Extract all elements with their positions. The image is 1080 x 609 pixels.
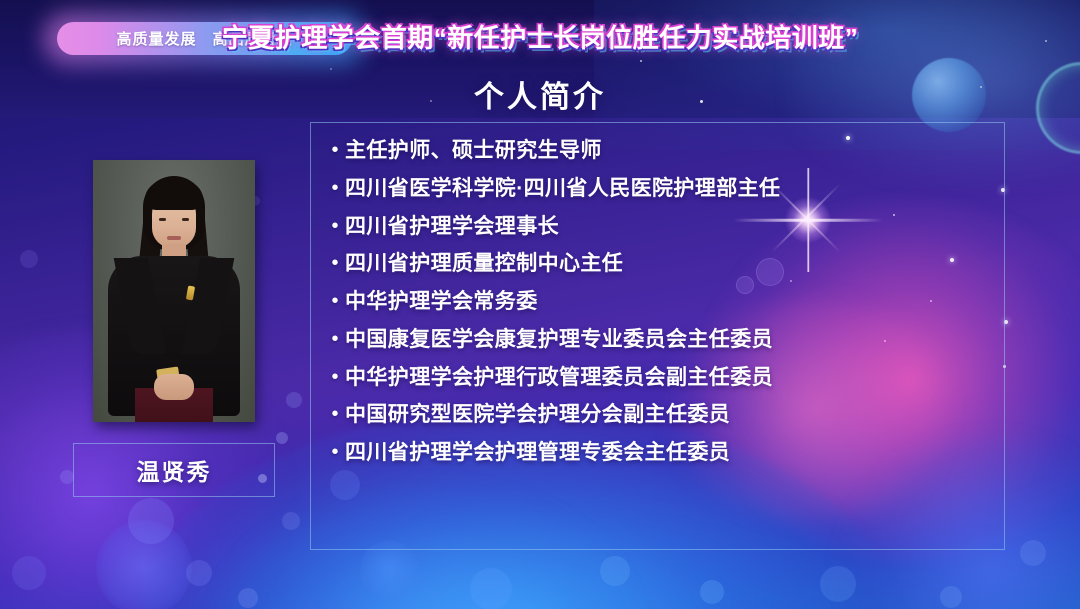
bokeh-circle [286, 392, 302, 408]
speaker-name: 温贤秀 [137, 453, 212, 487]
bullet-marker-icon: • [325, 215, 345, 239]
bokeh-circle [60, 470, 74, 484]
bullet-marker-icon: • [325, 177, 345, 201]
bullet-marker-icon: • [325, 328, 345, 352]
portrait-eye-left [159, 218, 166, 221]
speaker-portrait-photo [93, 160, 255, 422]
portrait-mouth [167, 236, 181, 240]
bullet-marker-icon: • [325, 366, 345, 390]
page-title: 个人简介 [0, 72, 1080, 116]
list-item-label: 中华护理学会护理行政管理委员会副主任委员 [345, 366, 773, 391]
bullet-marker-icon: • [325, 441, 345, 465]
biography-panel: • 主任护师、硕士研究生导师 • 四川省医学科学院·四川省人民医院护理部主任 •… [310, 122, 1005, 550]
biography-list: • 主任护师、硕士研究生导师 • 四川省医学科学院·四川省人民医院护理部主任 •… [325, 139, 990, 466]
list-item: • 四川省护理学会护理管理专委会主任委员 [325, 441, 990, 466]
list-item-label: 主任护师、硕士研究生导师 [345, 139, 602, 164]
speaker-name-box: 温贤秀 [73, 443, 275, 497]
bokeh-circle [820, 566, 856, 602]
list-item-label: 四川省护理质量控制中心主任 [345, 252, 623, 277]
bullet-marker-icon: • [325, 139, 345, 163]
portrait-fringe [145, 182, 203, 210]
list-item: • 中华护理学会常务委 [325, 290, 990, 315]
bokeh-circle [20, 250, 38, 268]
list-item: • 中华护理学会护理行政管理委员会副主任委员 [325, 366, 990, 391]
bokeh-circle [282, 512, 300, 530]
bokeh-circle [1020, 540, 1046, 566]
list-item: • 四川省护理质量控制中心主任 [325, 252, 990, 277]
event-title: 宁夏护理学会首期“新任护士长岗位胜任力实战培训班” [0, 18, 1080, 55]
bokeh-circle [600, 556, 630, 586]
bullet-marker-icon: • [325, 290, 345, 314]
bokeh-circle [12, 556, 46, 590]
bokeh-circle [276, 432, 288, 444]
list-item-label: 中国研究型医院学会护理分会副主任委员 [345, 403, 730, 428]
portrait-eye-right [182, 218, 189, 221]
list-item-label: 中华护理学会常务委 [345, 290, 538, 315]
bullet-marker-icon: • [325, 403, 345, 427]
bullet-marker-icon: • [325, 252, 345, 276]
list-item: • 中国研究型医院学会护理分会副主任委员 [325, 403, 990, 428]
list-item-label: 四川省医学科学院·四川省人民医院护理部主任 [345, 177, 780, 202]
bokeh-circle [128, 498, 174, 544]
list-item: • 中国康复医学会康复护理专业委员会主任委员 [325, 328, 990, 353]
presentation-slide: 高质量发展 高品质管理 宁夏护理学会首期“新任护士长岗位胜任力实战培训班” 个人… [0, 0, 1080, 609]
bokeh-circle [700, 580, 724, 604]
list-item: • 主任护师、硕士研究生导师 [325, 139, 990, 164]
list-item: • 四川省医学科学院·四川省人民医院护理部主任 [325, 177, 990, 202]
list-item: • 四川省护理学会理事长 [325, 215, 990, 240]
list-item-label: 四川省护理学会理事长 [345, 215, 559, 240]
list-item-label: 四川省护理学会护理管理专委会主任委员 [345, 441, 730, 466]
bokeh-circle [186, 560, 212, 586]
portrait-hands [154, 374, 194, 400]
bokeh-circle [940, 586, 962, 608]
list-item-label: 中国康复医学会康复护理专业委员会主任委员 [345, 328, 773, 353]
bokeh-circle [470, 568, 512, 609]
bokeh-circle [238, 588, 258, 608]
